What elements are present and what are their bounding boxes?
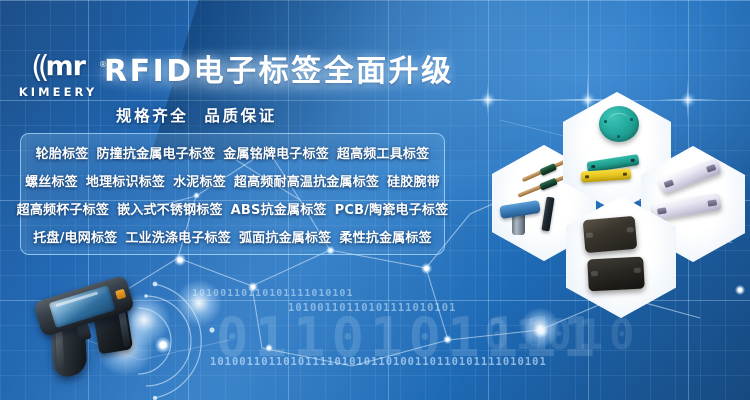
network-node-dot <box>443 335 452 344</box>
handheld-rfid-reader-device <box>22 272 172 394</box>
tag-item[interactable]: 嵌入式不锈钢标签 <box>113 199 227 218</box>
logo-arc-icon: (( <box>31 55 44 81</box>
tag-row: 托盘/电网标签工业洗涤电子标签弧面抗金属标签柔性抗金属标签 <box>21 227 444 246</box>
network-node-dot <box>174 254 186 266</box>
logo-wordmark: KIMEERY <box>12 85 104 99</box>
tag-item[interactable]: 防撞抗金属电子标签 <box>92 143 219 162</box>
network-node-dot <box>248 282 258 292</box>
binary-text-mid: 10100110110101111010101 <box>288 302 456 314</box>
rfid-promo-banner: 10100110110101111010101 1010011011010111… <box>0 0 750 400</box>
tag-item[interactable]: 弧面抗金属标签 <box>235 227 335 246</box>
light-glow <box>176 280 222 326</box>
tag-item[interactable]: 地理标识标签 <box>82 171 169 190</box>
headline-container: RFID电子标签全面升级 <box>104 50 454 94</box>
page-title: RFID电子标签全面升级 <box>104 50 454 94</box>
kimeery-logo[interactable]: ((mr® KIMEERY <box>12 52 104 99</box>
tag-row: 螺丝标签地理标识标签水泥标签超高频耐高温抗金属标签硅胶腕带 <box>21 171 444 190</box>
binary-text-large-right: 01010 <box>484 310 640 359</box>
tag-item[interactable]: 金属铭牌电子标签 <box>219 143 333 162</box>
subtitle: 规格齐全品质保证 <box>116 104 277 126</box>
tag-item[interactable]: 硅胶腕带 <box>383 171 444 190</box>
tag-row: 轮胎标签防撞抗金属电子标签金属铭牌电子标签超高频工具标签 <box>21 143 444 162</box>
tag-item[interactable]: 螺丝标签 <box>21 171 82 190</box>
tag-item[interactable]: 超高频杯子标签 <box>13 199 113 218</box>
tag-item[interactable]: 水泥标签 <box>169 171 230 190</box>
tag-item[interactable]: 柔性抗金属标签 <box>335 227 435 246</box>
network-node-dot <box>421 263 432 274</box>
reader-scan-button <box>115 289 126 300</box>
tag-item[interactable]: 工业洗涤电子标签 <box>121 227 235 246</box>
tag-item[interactable]: PCB/陶瓷电子标签 <box>331 199 453 218</box>
logo-letters: mr <box>45 51 84 82</box>
binary-text-top: 10100110110101111010101 <box>192 288 353 299</box>
subtitle-right: 品质保证 <box>204 107 276 125</box>
dark-abs-plate-product <box>583 216 638 253</box>
disc-tag-product <box>599 106 639 142</box>
tag-item[interactable]: 轮胎标签 <box>32 143 93 162</box>
tag-row: 超高频杯子标签嵌入式不锈钢标签ABS抗金属标签PCB/陶瓷电子标签 <box>21 199 444 218</box>
light-glow <box>520 308 560 348</box>
binary-text-large: 0110101111 <box>216 306 601 369</box>
dark-abs-plate-product <box>587 257 645 292</box>
network-node-dot <box>735 285 745 295</box>
network-node-dot <box>534 324 548 338</box>
tag-item[interactable]: ABS抗金属标签 <box>227 199 331 218</box>
screw-tag-product <box>498 195 544 235</box>
tag-item[interactable]: 超高频工具标签 <box>333 143 433 162</box>
tag-item[interactable]: 托盘/电网标签 <box>29 227 121 246</box>
tag-item[interactable]: 超高频耐高温抗金属标签 <box>230 171 383 190</box>
binary-text-bottom: 1010011011010111101010110100110110101111… <box>210 356 547 368</box>
logo-mark: ((mr® <box>12 52 104 82</box>
subtitle-left: 规格齐全 <box>116 107 188 125</box>
product-tag-list-panel: 轮胎标签防撞抗金属电子标签金属铭牌电子标签超高频工具标签螺丝标签地理标识标签水泥… <box>20 133 445 255</box>
network-node-dot <box>265 344 273 352</box>
